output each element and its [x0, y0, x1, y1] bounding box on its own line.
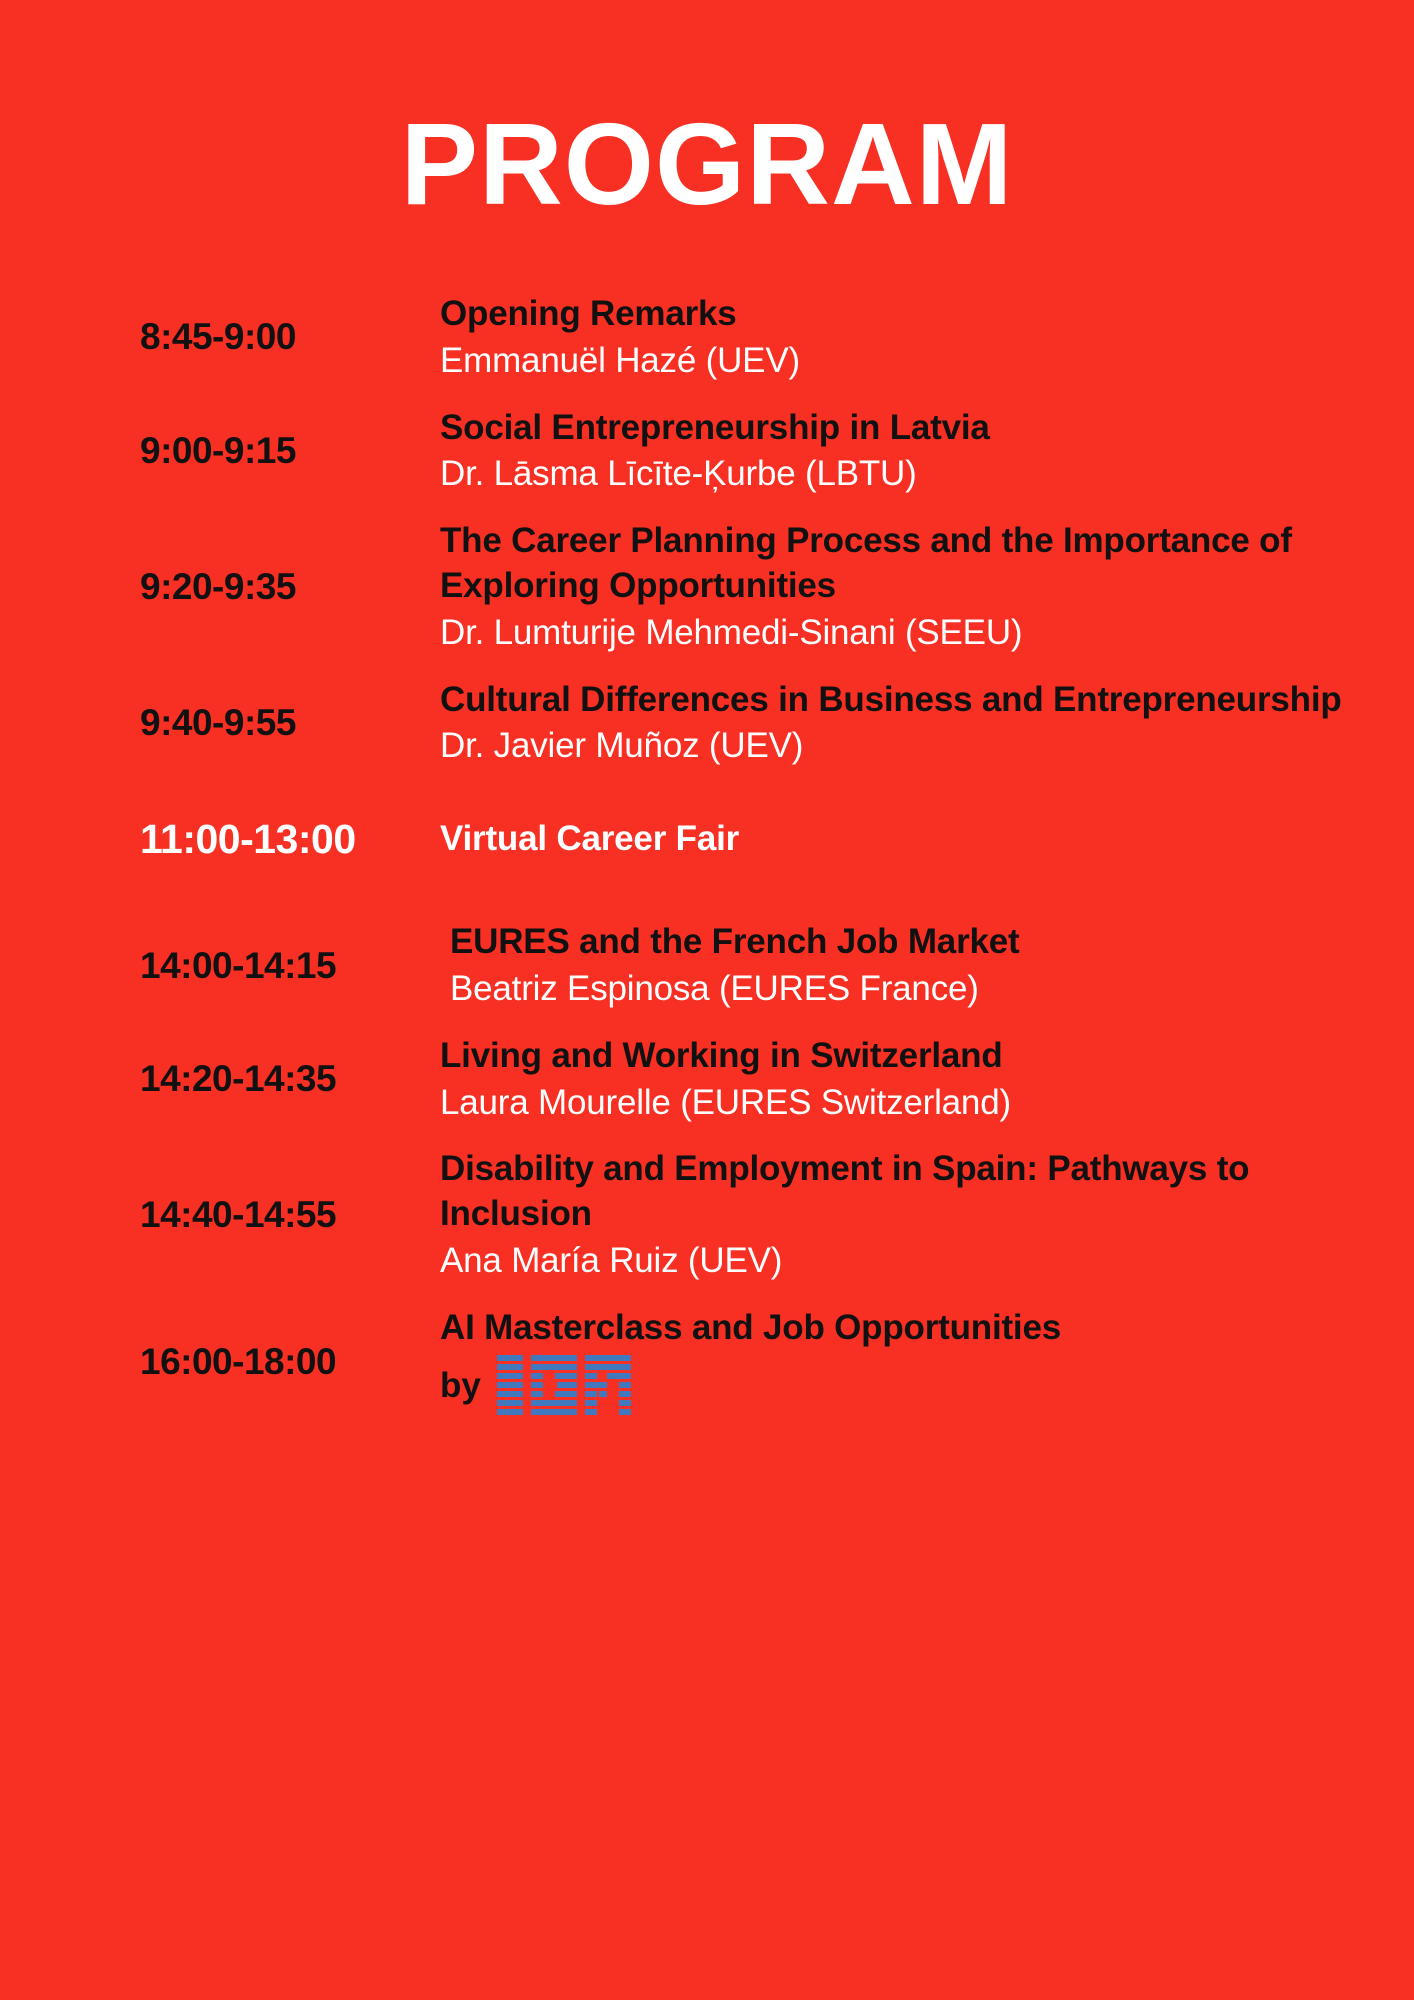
program-poster: PROGRAM 8:45-9:00 Opening Remarks Emmanu… — [0, 0, 1414, 2000]
by-label: by — [440, 1368, 481, 1403]
session-body: The Career Planning Process and the Impo… — [440, 519, 1364, 655]
session-time: 9:40-9:55 — [140, 703, 440, 744]
schedule-list: 8:45-9:00 Opening Remarks Emmanuël Hazé … — [0, 292, 1414, 1419]
session-speaker: Ana María Ruiz (UEV) — [440, 1239, 1364, 1284]
session-body: AI Masterclass and Job Opportunities by — [440, 1306, 1364, 1419]
session-time: 11:00-13:00 — [140, 817, 440, 862]
session-time: 14:40-14:55 — [140, 1195, 440, 1236]
session-title: Virtual Career Fair — [440, 817, 1364, 862]
schedule-row: 9:20-9:35 The Career Planning Process an… — [140, 519, 1364, 655]
session-time: 8:45-9:00 — [140, 317, 440, 358]
ibm-logo-icon — [495, 1353, 665, 1419]
session-time: 16:00-18:00 — [140, 1342, 440, 1383]
session-time: 14:20-14:35 — [140, 1059, 440, 1100]
session-body: Cultural Differences in Business and Ent… — [440, 678, 1364, 770]
sponsor-line: by — [440, 1353, 1364, 1419]
session-body: Living and Working in Switzerland Laura … — [440, 1034, 1364, 1126]
schedule-row-highlight: 11:00-13:00 Virtual Career Fair — [140, 817, 1364, 862]
session-title: Disability and Employment in Spain: Path… — [440, 1147, 1364, 1237]
session-speaker: Dr. Javier Muñoz (UEV) — [440, 724, 1364, 769]
session-title: AI Masterclass and Job Opportunities — [440, 1306, 1364, 1351]
session-title: Cultural Differences in Business and Ent… — [440, 678, 1364, 723]
schedule-row: 14:00-14:15 EURES and the French Job Mar… — [140, 920, 1364, 1012]
session-speaker: Laura Mourelle (EURES Switzerland) — [440, 1081, 1364, 1126]
session-title: Living and Working in Switzerland — [440, 1034, 1364, 1079]
session-body: Opening Remarks Emmanuël Hazé (UEV) — [440, 292, 1364, 384]
schedule-row: 9:00-9:15 Social Entrepreneurship in Lat… — [140, 406, 1364, 498]
page-title: PROGRAM — [0, 0, 1414, 222]
schedule-row: 8:45-9:00 Opening Remarks Emmanuël Hazé … — [140, 292, 1364, 384]
session-title: Social Entrepreneurship in Latvia — [440, 406, 1364, 451]
session-speaker: Emmanuël Hazé (UEV) — [440, 339, 1364, 384]
session-body: Disability and Employment in Spain: Path… — [440, 1147, 1364, 1283]
session-title: The Career Planning Process and the Impo… — [440, 519, 1364, 609]
session-body: EURES and the French Job Market Beatriz … — [440, 920, 1364, 1012]
session-time: 9:00-9:15 — [140, 431, 440, 472]
schedule-row: 16:00-18:00 AI Masterclass and Job Oppor… — [140, 1306, 1364, 1419]
session-time: 9:20-9:35 — [140, 567, 440, 608]
session-title: EURES and the French Job Market — [450, 920, 1364, 965]
schedule-row: 14:20-14:35 Living and Working in Switze… — [140, 1034, 1364, 1126]
session-time: 14:00-14:15 — [140, 946, 440, 987]
session-speaker: Dr. Lumturije Mehmedi-Sinani (SEEU) — [440, 611, 1364, 656]
session-body: Social Entrepreneurship in Latvia Dr. Lā… — [440, 406, 1364, 498]
schedule-row: 9:40-9:55 Cultural Differences in Busine… — [140, 678, 1364, 770]
session-title: Opening Remarks — [440, 292, 1364, 337]
session-speaker: Dr. Lāsma Līcīte-Ķurbe (LBTU) — [440, 452, 1364, 497]
session-speaker: Beatriz Espinosa (EURES France) — [450, 967, 1364, 1012]
session-body: Virtual Career Fair — [440, 817, 1364, 862]
schedule-row: 14:40-14:55 Disability and Employment in… — [140, 1147, 1364, 1283]
